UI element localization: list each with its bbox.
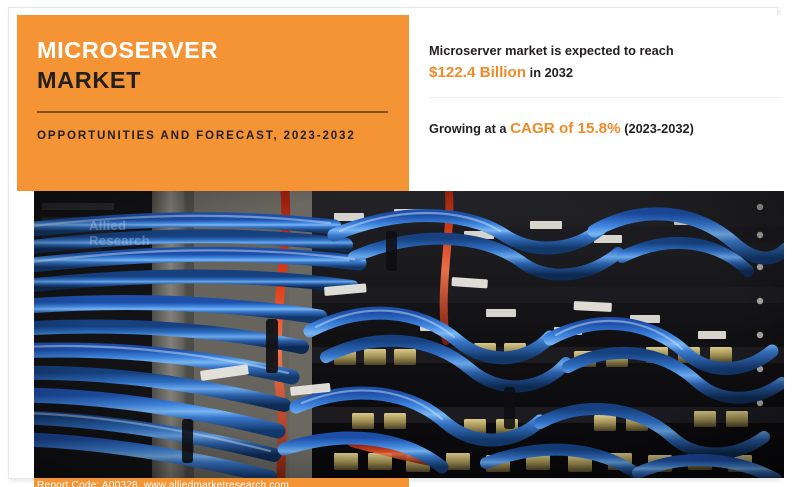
infographic-page: MICROSERVER MARKET OPPORTUNITIES AND FOR…: [0, 0, 800, 487]
cagr-prefix: Growing at a: [429, 121, 507, 136]
title-divider: [37, 111, 388, 113]
title-block-content: MICROSERVER MARKET OPPORTUNITIES AND FOR…: [37, 35, 395, 145]
title-subtitle: OPPORTUNITIES AND FORECAST, 2023-2032: [37, 127, 395, 146]
stat-panel: Microserver market is expected to reach …: [409, 15, 787, 191]
stat-divider: [429, 97, 781, 98]
network-cables-illustration: [34, 191, 784, 478]
market-value-year: in 2032: [530, 65, 573, 80]
network-cables-photo: Allied Research: [34, 191, 784, 478]
market-value-prefix: Microserver market is expected to reach: [429, 43, 674, 58]
stat-panel-content: Microserver market is expected to reach …: [429, 41, 779, 141]
title-block: MICROSERVER MARKET OPPORTUNITIES AND FOR…: [17, 15, 409, 191]
infographic-card: MICROSERVER MARKET OPPORTUNITIES AND FOR…: [8, 7, 778, 479]
market-value-amount: $122.4 Billion: [429, 64, 526, 81]
footer-bar: Report Code: A00328, www.alliedmarketres…: [34, 478, 409, 487]
page-title-line2: MARKET: [37, 65, 395, 95]
report-code-and-website: Report Code: A00328, www.alliedmarketres…: [37, 480, 289, 487]
page-title-line1: MICROSERVER: [37, 35, 395, 65]
cagr-period: (2023-2032): [624, 121, 694, 136]
cagr-statement: Growing at a CAGR of 15.8% (2023-2032): [429, 118, 779, 141]
cagr-value: CAGR of 15.8%: [510, 120, 621, 137]
market-value-statement: Microserver market is expected to reach …: [429, 41, 779, 84]
